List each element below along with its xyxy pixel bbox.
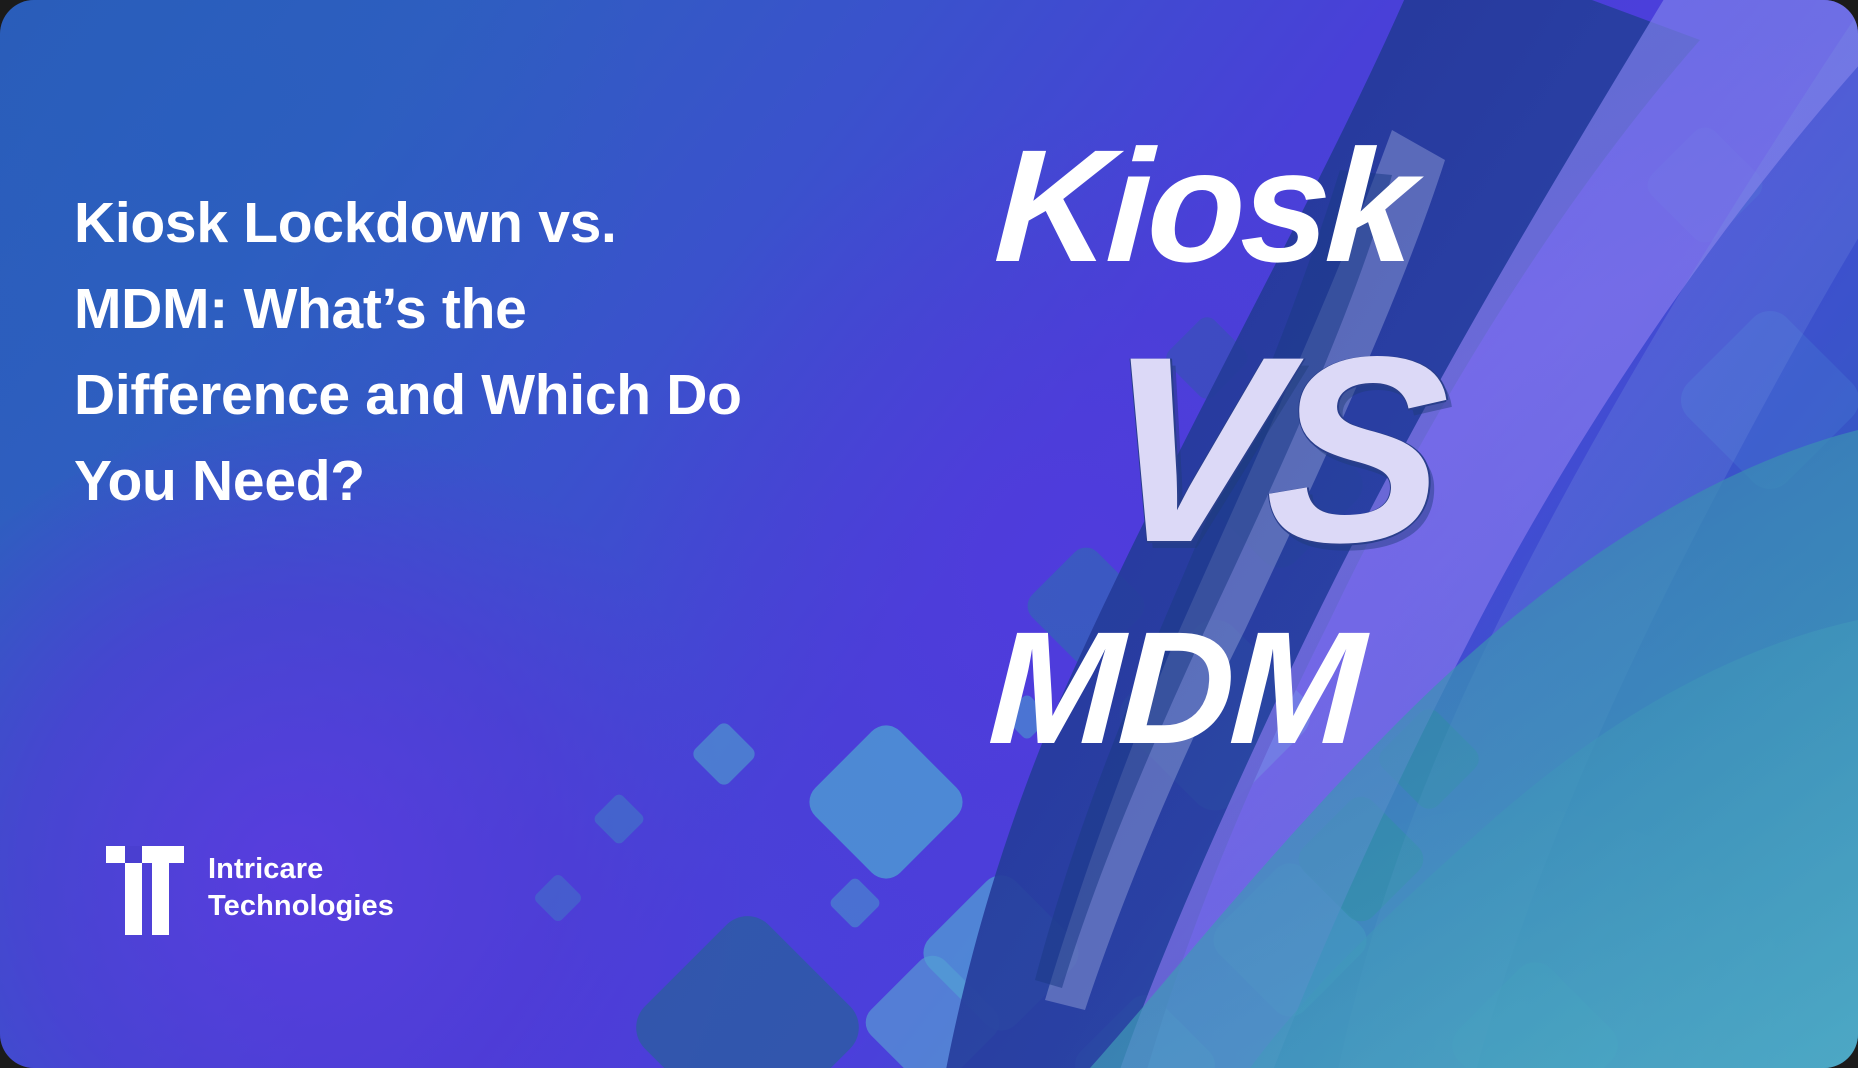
decorative-square <box>1205 855 1375 1025</box>
decorative-square <box>1671 301 1858 499</box>
decorative-square <box>533 873 584 924</box>
decorative-square <box>624 904 871 1068</box>
wordart-vs: VS <box>1093 318 1445 583</box>
decorative-square <box>858 948 1006 1068</box>
bg-blob-bottom-right <box>1198 808 1818 1068</box>
page-title: Kiosk Lockdown vs. MDM: What’s the Diffe… <box>74 180 774 524</box>
decorative-square <box>828 876 882 930</box>
decorative-square <box>915 867 1088 1040</box>
decorative-square <box>690 720 758 788</box>
decorative-square <box>1443 953 1627 1068</box>
decorative-square <box>1292 790 1431 929</box>
brand-logo: Intricare Technologies <box>106 838 394 938</box>
brand-name: Intricare Technologies <box>208 851 394 925</box>
wordart-kiosk: Kiosk <box>992 126 1416 286</box>
promo-banner: Kiosk VS MDM Kiosk Lockdown vs. MDM: Wha… <box>0 0 1858 1068</box>
decorative-square <box>592 792 646 846</box>
decorative-square <box>1067 987 1223 1068</box>
decorative-square <box>1374 704 1484 814</box>
decorative-square <box>1641 121 1768 248</box>
wordart-mdm: MDM <box>986 608 1364 768</box>
decorative-square <box>801 717 971 887</box>
it-monogram-icon <box>106 838 184 938</box>
